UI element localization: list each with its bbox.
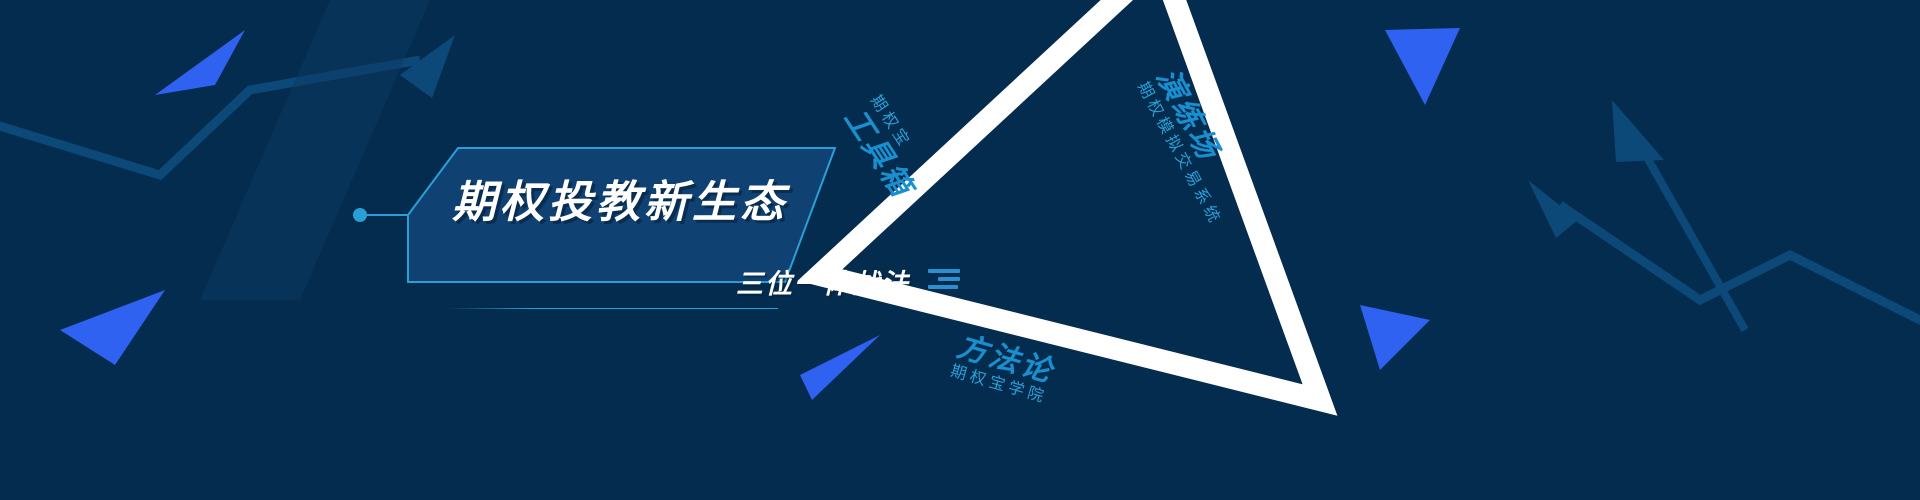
triangle-top-right — [1385, 28, 1460, 105]
zigzag-right — [1528, 180, 1920, 330]
triangle-outline — [760, 0, 1380, 470]
triangle-bottom-left — [60, 290, 165, 365]
triangle-diagram: 期权宝 工具箱 演练场 期权模拟交易系统 方法论 期权宝学院 — [760, 0, 1380, 470]
promo-banner: 期权投教新生态 三位一体战法 期权宝 工具箱 演练场 期权模拟交易系统 方法论 … — [0, 0, 1920, 500]
subtitle-underline — [448, 308, 778, 309]
triangle-top-left — [155, 30, 245, 95]
triangle-stroke — [820, 0, 1320, 400]
connector-dot-icon — [353, 208, 367, 222]
arrow-up-right-icon — [1612, 100, 1745, 330]
